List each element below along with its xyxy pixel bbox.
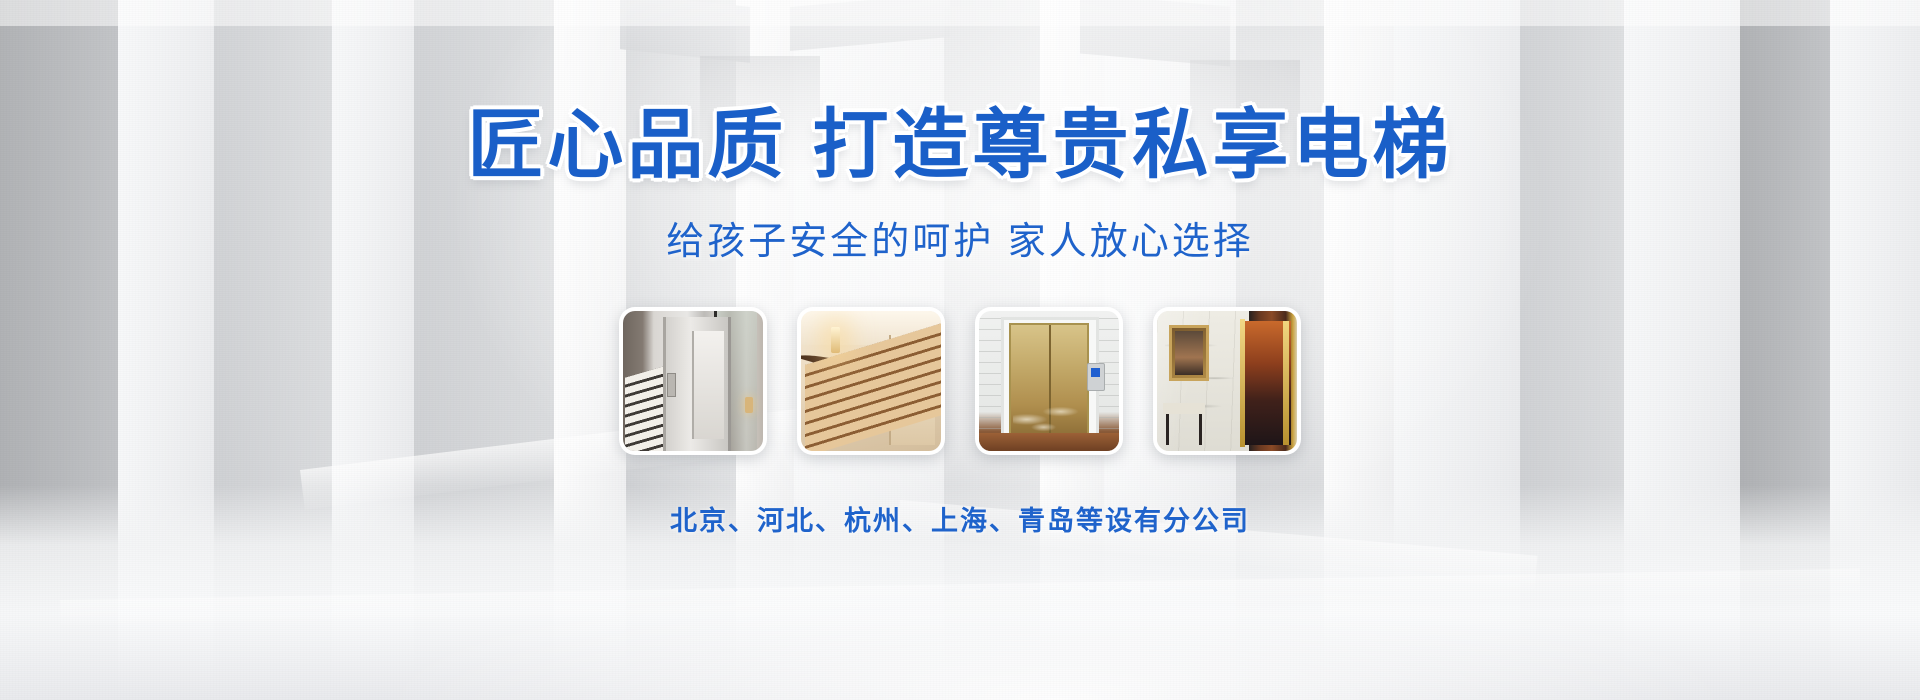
banner-subheadline: 给孩子安全的呵护 家人放心选择: [666, 210, 1254, 265]
call-panel-1: [667, 373, 676, 397]
banner-headline: 匠心品质 打造尊贵私享电梯: [467, 104, 1452, 188]
elevator-cab-4: [1245, 321, 1291, 445]
gold-trim-4: [1240, 319, 1245, 447]
etched-pattern-3: [1013, 383, 1081, 435]
hero-banner: 匠心品质 打造尊贵私享电梯 给孩子安全的呵护 家人放心选择: [0, 0, 1920, 700]
thumbnail-image-2: [801, 311, 941, 451]
thumbnail-beige-interior-wooden-staircase-elevator[interactable]: [797, 307, 945, 455]
thumbnail-gold-glass-etched-elevator-doors[interactable]: [975, 307, 1123, 455]
thumbnail-image-4: [1157, 311, 1297, 451]
thumbnail-marble-lobby-wood-panel-elevator[interactable]: [1153, 307, 1301, 455]
control-panel-3: [1087, 363, 1105, 391]
framed-artwork-4: [1169, 325, 1209, 381]
wood-floor-3: [979, 433, 1119, 451]
thumbnail-silver-villa-elevator-with-staircase[interactable]: [619, 307, 767, 455]
thumbnail-gallery: [619, 307, 1301, 455]
thumbnail-image-1: [623, 311, 763, 451]
banner-footnote-branches: 北京、河北、杭州、上海、青岛等设有分公司: [670, 499, 1250, 538]
console-table-4: [1163, 403, 1205, 445]
banner-content: 匠心品质 打造尊贵私享电梯 给孩子安全的呵护 家人放心选择: [0, 0, 1920, 700]
thumbnail-image-3: [979, 311, 1119, 451]
wall-sconce-1: [745, 397, 753, 413]
wall-sconce-2: [831, 327, 840, 353]
